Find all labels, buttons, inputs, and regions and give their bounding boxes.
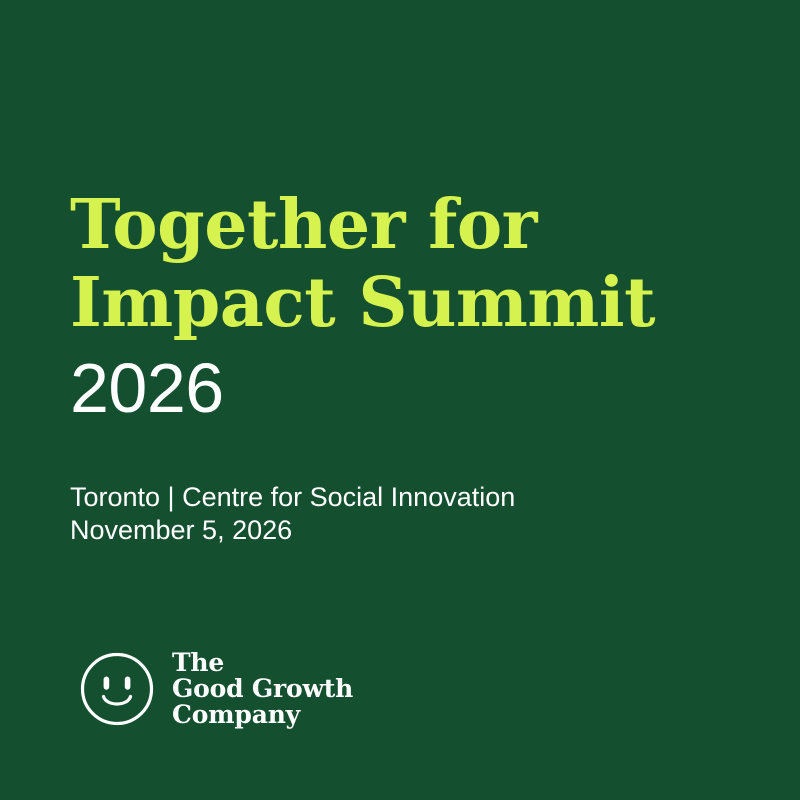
event-date: November 5, 2026	[70, 514, 730, 547]
logo-wordmark: The Good Growth Company	[172, 650, 353, 728]
event-details: Toronto | Centre for Social Innovation N…	[70, 481, 730, 547]
logo-wordmark-line-2: Good Growth	[172, 676, 353, 702]
event-venue: Toronto | Centre for Social Innovation	[70, 481, 730, 514]
company-logo: The Good Growth Company	[80, 650, 353, 728]
logo-wordmark-line-1: The	[172, 650, 353, 676]
headline-line-2: Impact Summit	[70, 264, 730, 342]
page-title: Together for Impact Summit	[70, 186, 730, 342]
logo-wordmark-line-3: Company	[172, 702, 353, 728]
event-poster: Together for Impact Summit 2026 Toronto …	[0, 0, 800, 800]
smiley-face-icon	[80, 652, 154, 726]
event-year: 2026	[70, 352, 224, 424]
headline-line-1: Together for	[70, 186, 730, 264]
